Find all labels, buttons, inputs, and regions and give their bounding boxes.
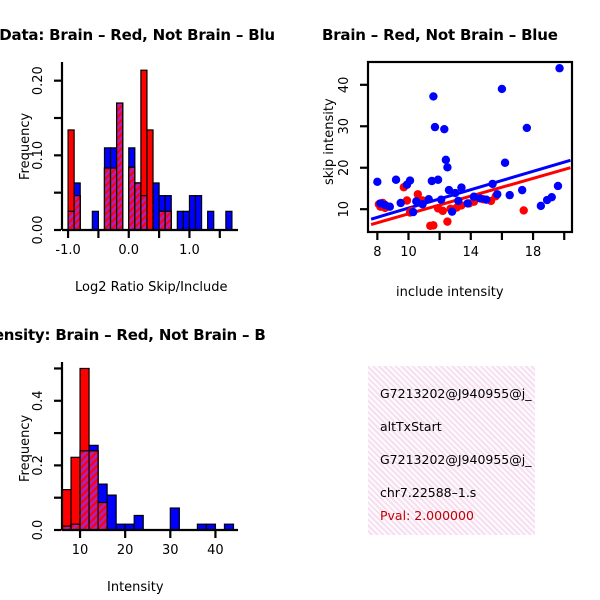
scatter-points-group xyxy=(371,64,570,230)
scatter-point-not-brain xyxy=(434,176,442,184)
y-tick-label: 0.10 xyxy=(31,141,46,170)
x-tick-label: 40 xyxy=(207,543,224,558)
hist-bar-notbrain xyxy=(177,211,183,230)
scatter-point-not-brain xyxy=(392,176,400,184)
panel-gene-intensity-histogram: ne Itensity: Brain – Red, Not Brain – B … xyxy=(0,300,300,600)
panel-title-scatter: Brain – Red, Not Brain – Blue xyxy=(322,26,558,44)
hist-bar-overlap xyxy=(68,211,74,230)
scatter-point-not-brain xyxy=(523,124,531,132)
panel-intensity-scatter: Brain – Red, Not Brain – Blue 8101418102… xyxy=(300,0,600,300)
scatter-point-not-brain xyxy=(442,156,450,164)
x-tick-label: 10 xyxy=(400,245,417,260)
panel-ratio-histogram: RatioData: Brain – Red, Not Brain – Blu … xyxy=(0,0,300,300)
scatter-point-not-brain xyxy=(493,190,501,198)
y-tick-label: 10 xyxy=(337,201,352,218)
scatter-point-brain xyxy=(439,207,447,215)
scatter-point-not-brain xyxy=(537,202,545,210)
scatter-point-not-brain xyxy=(397,199,405,207)
scatter-point-not-brain xyxy=(518,186,526,194)
hist-bar-notbrain xyxy=(226,211,232,230)
panel-title-gene-intensity: ne Itensity: Brain – Red, Not Brain – B xyxy=(0,326,266,344)
hist-bar-notbrain xyxy=(196,196,202,230)
hist-bar-notbrain xyxy=(170,508,179,530)
hist-bar-notbrain xyxy=(107,495,116,530)
x-tick-label: -1.0 xyxy=(55,243,80,258)
scatter-point-not-brain xyxy=(463,199,471,207)
y-tick-label: 0.2 xyxy=(31,455,46,476)
scatter-point-not-brain xyxy=(431,123,439,131)
scatter-point-brain xyxy=(520,206,528,214)
hist-bar-overlap xyxy=(89,451,98,530)
ratio-ylabel: Frequency xyxy=(18,113,33,180)
scatter-point-not-brain xyxy=(409,208,417,216)
hist-bar-overlap xyxy=(135,183,141,230)
scatter-point-not-brain xyxy=(501,159,509,167)
hist-bar-overlap xyxy=(165,211,171,230)
info-line-coordinate: chr7.22588–1.s xyxy=(380,485,476,500)
gene-intensity-histogram-plot: 102030400.00.20.4 xyxy=(0,300,300,600)
y-tick-label: 0.4 xyxy=(31,390,46,411)
info-line-gene-id-2: G7213202@J940955@j_ xyxy=(380,452,531,467)
x-tick-label: 18 xyxy=(525,245,542,260)
hist-bar-notbrain xyxy=(208,211,214,230)
scatter-point-not-brain xyxy=(488,180,496,188)
y-tick-label: 40 xyxy=(337,77,352,94)
hist-bar-overlap xyxy=(98,503,107,530)
hist-bar-brain xyxy=(62,490,71,530)
hist-bar-overlap xyxy=(129,167,135,230)
scatter-point-not-brain xyxy=(506,191,514,199)
scatter-ylabel: skip intensity xyxy=(322,98,337,185)
scatter-point-brain xyxy=(429,221,437,229)
ratio-histogram-plot: -1.00.01.00.000.100.20 xyxy=(0,0,300,300)
hist-bar-notbrain xyxy=(92,211,98,230)
scatter-point-not-brain xyxy=(457,183,465,191)
y-tick-label: 20 xyxy=(337,159,352,176)
gene-intensity-ylabel: Frequency xyxy=(18,415,33,482)
scatter-point-not-brain xyxy=(386,203,394,211)
scatter-point-not-brain xyxy=(454,197,462,205)
info-line-event-type: altTxStart xyxy=(380,419,442,434)
panel-title-ratio: RatioData: Brain – Red, Not Brain – Blu xyxy=(0,26,275,44)
scatter-point-not-brain xyxy=(373,178,381,186)
x-tick-label: 20 xyxy=(117,543,134,558)
x-tick-label: 14 xyxy=(463,245,480,260)
hist-bar-notbrain xyxy=(153,183,159,230)
hist-bar-overlap xyxy=(104,168,110,230)
scatter-point-not-brain xyxy=(554,182,562,190)
annotation-info-box: G7213202@J940955@j_ altTxStart G7213202@… xyxy=(368,366,535,535)
y-tick-label: 30 xyxy=(337,118,352,135)
x-tick-label: 30 xyxy=(162,543,179,558)
scatter-point-not-brain xyxy=(555,64,563,72)
scatter-point-not-brain xyxy=(443,163,451,171)
panel-annotation-box: G7213202@J940955@j_ altTxStart G7213202@… xyxy=(300,300,600,600)
scatter-point-not-brain xyxy=(498,85,506,93)
scatter-point-not-brain xyxy=(429,92,437,100)
hist-bar-notbrain xyxy=(134,515,143,530)
y-tick-label: 0.0 xyxy=(31,520,46,541)
gene-intensity-xlabel: Intensity xyxy=(107,580,164,595)
x-tick-label: 0.0 xyxy=(118,243,139,258)
scatter-point-not-brain xyxy=(437,195,445,203)
scatter-point-not-brain xyxy=(406,176,414,184)
hist-bar-overlap xyxy=(111,168,117,230)
hist-bar-overlap xyxy=(80,451,89,530)
scatter-xlabel: include intensity xyxy=(396,285,504,300)
x-tick-label: 8 xyxy=(373,245,381,260)
hist-bar-overlap xyxy=(74,196,80,230)
scatter-point-not-brain xyxy=(440,125,448,133)
hist-bar-notbrain xyxy=(189,196,195,230)
hist-bar-overlap xyxy=(159,211,165,230)
ratio-xlabel: Log2 Ratio Skip/Include xyxy=(75,280,227,295)
hist-bar-overlap xyxy=(141,196,147,230)
info-line-pval: Pval: 2.000000 xyxy=(380,508,474,523)
hist-bar-brain xyxy=(71,457,80,530)
scatter-point-not-brain xyxy=(448,207,456,215)
scatter-point-brain xyxy=(443,217,451,225)
y-tick-label: 0.20 xyxy=(31,66,46,95)
hist-bar-notbrain xyxy=(183,211,189,230)
scatter-point-not-brain xyxy=(482,195,490,203)
hist-bar-brain xyxy=(147,130,153,230)
x-tick-label: 1.0 xyxy=(179,243,200,258)
info-line-gene-id: G7213202@J940955@j_ xyxy=(380,386,531,401)
hist-bar-overlap xyxy=(117,103,123,230)
x-tick-label: 10 xyxy=(72,543,89,558)
scatter-point-not-brain xyxy=(548,193,556,201)
intensity-scatter-plot: 810141810203040 xyxy=(300,0,600,300)
scatter-point-not-brain xyxy=(425,195,433,203)
y-tick-label: 0.00 xyxy=(31,216,46,245)
